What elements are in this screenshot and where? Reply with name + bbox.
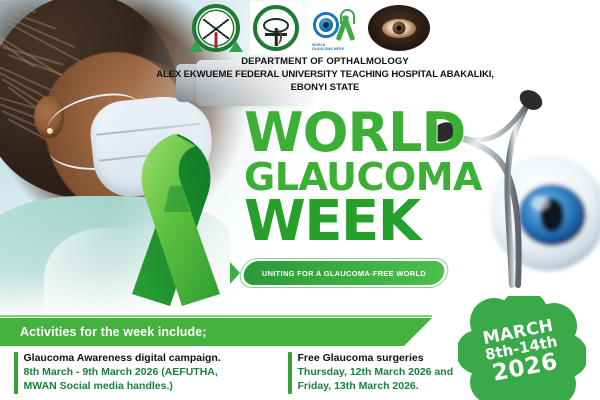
activity-detail-line: Thursday, 12th March 2026 and (298, 366, 454, 380)
tagline-chevron (230, 262, 240, 284)
header-department-line: DEPARTMENT OF OPTHALMOLOGY (130, 56, 520, 69)
logo-row: WORLD GLAUCOMA WEEK (188, 2, 430, 54)
wgw-caption-line2: GLAUCOMA WEEK (312, 47, 344, 51)
activity-accent-bar (14, 352, 18, 394)
wgw-caption: WORLD GLAUCOMA WEEK (312, 43, 344, 52)
activity-detail-line: MWAN Social media handles.) (24, 380, 221, 394)
organization-header: DEPARTMENT OF OPTHALMOLOGY ALEX EKWUEME … (130, 56, 520, 94)
tagline-banner: UNITING FOR A GLAUCOMA-FREE WORLD (236, 258, 444, 285)
activity-heading: Glaucoma Awareness digital campaign. (24, 352, 221, 366)
header-hospital-line: ALEX EKWUEME FEDERAL UNIVERSITY TEACHING… (130, 69, 520, 82)
activity-heading: Free Glaucoma surgeries (298, 352, 454, 366)
society-serpent (270, 29, 282, 45)
aefutha-university-seal-icon (188, 2, 244, 54)
tagline-pill: UNITING FOR A GLAUCOMA-FREE WORLD (241, 261, 446, 285)
eye-emblem-eyeball (382, 19, 416, 38)
seal-arrow-marks (188, 36, 244, 52)
eye-emblem-logo-icon (368, 5, 430, 51)
title-word-week: WEEK (244, 196, 482, 248)
activity-accent-bar (288, 352, 292, 394)
page-title: WORLD GLAUCOMA WEEK (244, 108, 482, 247)
world-glaucoma-week-logo-icon: WORLD GLAUCOMA WEEK (308, 2, 362, 54)
tagline-text: UNITING FOR A GLAUCOMA-FREE WORLD (262, 269, 426, 278)
ophthalmological-society-logo-icon (250, 2, 302, 54)
activity-detail-line: Friday, 13th March 2026. (298, 380, 454, 394)
title-word-world: WORLD (244, 108, 482, 158)
activity-text-block: Glaucoma Awareness digital campaign. 8th… (24, 352, 221, 394)
society-ring (253, 5, 299, 51)
activity-item-free-surgeries: Free Glaucoma surgeries Thursday, 12th M… (288, 352, 478, 394)
banner-top-edge (0, 315, 432, 317)
activities-banner-title: Activities for the week include; (20, 325, 207, 339)
poster-canvas: WORLD GLAUCOMA WEEK DEPARTMENT OF OPTHAL… (0, 0, 600, 400)
activity-text-block: Free Glaucoma surgeries Thursday, 12th M… (298, 352, 454, 394)
badge-scallop-shape (458, 296, 586, 400)
activities-banner: Activities for the week include; (0, 318, 432, 346)
wgw-ribbon-icon (336, 9, 354, 41)
header-state-line: EBONYI STATE (130, 82, 520, 95)
activity-item-digital-campaign: Glaucoma Awareness digital campaign. 8th… (14, 352, 264, 394)
activity-detail-line: 8th March - 9th March 2026 (AEFUTHA, (24, 366, 221, 380)
activities-list: Glaucoma Awareness digital campaign. 8th… (14, 352, 484, 394)
society-crossbar (265, 33, 287, 36)
date-badge: MARCH 8th-14th 2026 (458, 296, 586, 400)
green-awareness-ribbon (112, 128, 240, 313)
